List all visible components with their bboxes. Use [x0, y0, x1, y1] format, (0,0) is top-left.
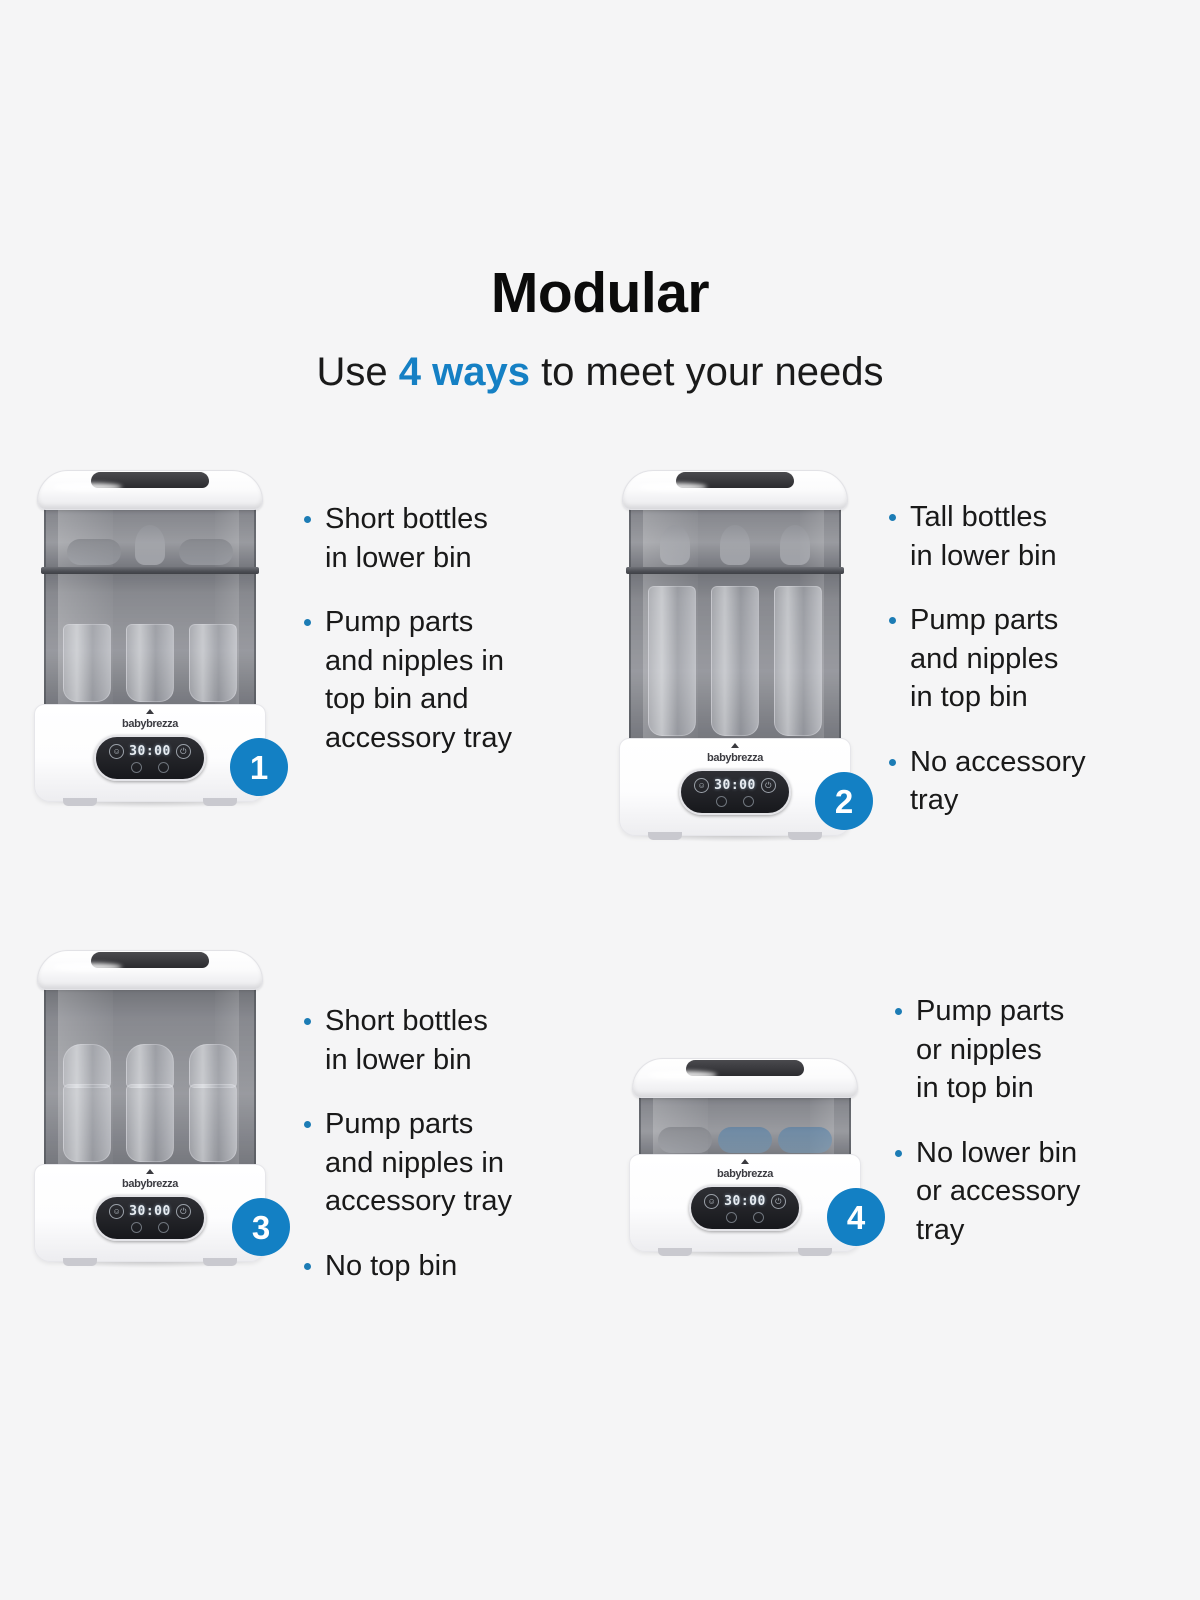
list-item: Pump parts and nipples in top bin: [889, 601, 1086, 717]
bullet-dot-icon: [304, 1263, 311, 1270]
brand-triangle-icon: [731, 743, 739, 748]
bullet-dot-icon: [889, 617, 896, 624]
control-panel[interactable]: ☺ 30:00 ⏻: [94, 735, 206, 781]
tall-bottle: [774, 586, 822, 736]
control-row-upper: ☺ 30:00 ⏻: [691, 1194, 799, 1209]
sterilizer-lid: [632, 1058, 858, 1098]
product-image-2: babybrezza ☺ 30:00 ⏻: [615, 470, 855, 836]
list-item: Tall bottles in lower bin: [889, 498, 1086, 575]
sterilizer-lid: [37, 950, 263, 990]
steam-icon[interactable]: ☺: [109, 1204, 124, 1219]
brand-logo: babybrezza: [620, 752, 850, 764]
timer-display: 30:00: [714, 778, 756, 793]
feature-text: No lower bin or accessory tray: [916, 1134, 1080, 1250]
short-bottle-cap: [189, 1044, 237, 1088]
product-image-1: babybrezza ☺ 30:00 ⏻: [30, 470, 270, 802]
feature-text: Tall bottles in lower bin: [910, 498, 1057, 575]
timer-display: 30:00: [129, 744, 171, 759]
lower-bin: [44, 986, 256, 1166]
timer-display: 30:00: [129, 1204, 171, 1219]
subtitle-suffix: to meet your needs: [530, 350, 884, 394]
sterilizer-base: babybrezza ☺ 30:00 ⏻: [34, 1164, 266, 1262]
sterilizer-base: babybrezza ☺ 30:00 ⏻: [629, 1154, 861, 1252]
steam-icon[interactable]: ☺: [694, 778, 709, 793]
feature-text: Pump parts and nipples in accessory tray: [325, 1105, 512, 1221]
short-bottle: [63, 624, 111, 702]
brand-triangle-icon: [146, 1169, 154, 1174]
step-badge-2: 2: [815, 772, 873, 830]
list-item: No lower bin or accessory tray: [895, 1134, 1080, 1250]
feature-text: Short bottles in lower bin: [325, 500, 488, 577]
feature-list-4: Pump parts or nipples in top bin No lowe…: [895, 950, 1080, 1249]
brand-triangle-icon: [146, 709, 154, 714]
nipple-part: [135, 525, 165, 565]
control-row-lower: [681, 796, 789, 807]
short-bottle: [126, 624, 174, 702]
short-bottle: [126, 1084, 174, 1162]
tall-bottle: [648, 586, 696, 736]
timer-button[interactable]: [743, 796, 754, 807]
lower-bin: [629, 568, 841, 740]
feature-list-2: Tall bottles in lower bin Pump parts and…: [889, 470, 1086, 820]
timer-button[interactable]: [158, 1222, 169, 1233]
power-icon[interactable]: ⏻: [771, 1194, 786, 1209]
short-bottle-cap: [126, 1044, 174, 1088]
pump-part: [179, 539, 233, 565]
timer-button[interactable]: [753, 1212, 764, 1223]
list-item: No top bin: [304, 1247, 512, 1286]
mode-button[interactable]: [131, 1222, 142, 1233]
bin-divider-rim: [41, 567, 259, 574]
feature-text: Short bottles in lower bin: [325, 1002, 488, 1079]
pump-part: [658, 1127, 712, 1153]
brand-logo: babybrezza: [630, 1168, 860, 1180]
timer-display: 30:00: [724, 1194, 766, 1209]
nipple-part: [780, 525, 810, 565]
nipple-part: [660, 525, 690, 565]
mode-button[interactable]: [131, 762, 142, 773]
list-item: Pump parts and nipples in top bin and ac…: [304, 603, 512, 757]
brand-logo: babybrezza: [35, 718, 265, 730]
control-row-lower: [691, 1212, 799, 1223]
sterilizer-lid: [37, 470, 263, 510]
config-panel-4: babybrezza ☺ 30:00 ⏻: [615, 950, 1185, 1300]
control-panel[interactable]: ☺ 30:00 ⏻: [94, 1195, 206, 1241]
feature-text: No accessory tray: [910, 743, 1086, 820]
lower-bin-contents-row2: [46, 1084, 254, 1166]
pump-part-blue: [778, 1127, 832, 1153]
power-icon[interactable]: ⏻: [176, 1204, 191, 1219]
lower-bin-contents: [46, 624, 254, 706]
base-feet: [63, 798, 237, 806]
top-bin: [639, 1094, 851, 1156]
short-bottle: [189, 1084, 237, 1162]
pump-part: [67, 539, 121, 565]
bullet-dot-icon: [304, 1018, 311, 1025]
config-panel-2: babybrezza ☺ 30:00 ⏻: [615, 470, 1175, 870]
feature-text: Pump parts and nipples in top bin: [910, 601, 1058, 717]
control-row-upper: ☺ 30:00 ⏻: [96, 744, 204, 759]
base-feet: [648, 832, 822, 840]
bullet-dot-icon: [895, 1150, 902, 1157]
power-icon[interactable]: ⏻: [176, 744, 191, 759]
nipple-part: [720, 525, 750, 565]
short-bottle-cap: [63, 1044, 111, 1088]
control-row-upper: ☺ 30:00 ⏻: [681, 778, 789, 793]
top-bin-contents: [641, 1127, 849, 1153]
short-bottle: [63, 1084, 111, 1162]
step-badge-3: 3: [232, 1198, 290, 1256]
lower-bin-contents: [631, 586, 839, 740]
control-panel[interactable]: ☺ 30:00 ⏻: [679, 769, 791, 815]
brand-triangle-icon: [741, 1159, 749, 1164]
config-panel-3: babybrezza ☺ 30:00 ⏻: [20, 950, 590, 1300]
mode-button[interactable]: [726, 1212, 737, 1223]
control-panel[interactable]: ☺ 30:00 ⏻: [689, 1185, 801, 1231]
feature-text: Pump parts or nipples in top bin: [916, 992, 1064, 1108]
step-badge-4: 4: [827, 1188, 885, 1246]
list-item: Pump parts or nipples in top bin: [895, 992, 1080, 1108]
lower-bin: [44, 568, 256, 706]
timer-button[interactable]: [158, 762, 169, 773]
control-row-lower: [96, 762, 204, 773]
list-item: Short bottles in lower bin: [304, 1002, 512, 1079]
bullet-dot-icon: [304, 516, 311, 523]
tall-bottle: [711, 586, 759, 736]
feature-text: Pump parts and nipples in top bin and ac…: [325, 603, 512, 757]
heading-block: Modular Use 4 ways to meet your needs: [0, 265, 1200, 394]
subtitle-prefix: Use: [316, 350, 398, 394]
bullet-dot-icon: [889, 759, 896, 766]
top-bin-contents: [46, 525, 254, 565]
sterilizer-unit-2: babybrezza ☺ 30:00 ⏻: [615, 470, 855, 836]
sterilizer-lid: [622, 470, 848, 510]
pump-part-blue: [718, 1127, 772, 1153]
top-bin: [629, 504, 841, 568]
infographic-page: Modular Use 4 ways to meet your needs: [0, 0, 1200, 1600]
sterilizer-base: babybrezza ☺ 30:00 ⏻: [619, 738, 851, 836]
bullet-dot-icon: [895, 1008, 902, 1015]
base-feet: [658, 1248, 832, 1256]
subtitle-accent: 4 ways: [399, 350, 530, 394]
control-row-upper: ☺ 30:00 ⏻: [96, 1204, 204, 1219]
page-subtitle: Use 4 ways to meet your needs: [0, 350, 1200, 394]
feature-list-1: Short bottles in lower bin Pump parts an…: [304, 470, 512, 757]
list-item: Short bottles in lower bin: [304, 500, 512, 577]
bullet-dot-icon: [304, 619, 311, 626]
power-icon[interactable]: ⏻: [761, 778, 776, 793]
brand-logo: babybrezza: [35, 1178, 265, 1190]
bullet-dot-icon: [304, 1121, 311, 1128]
list-item: Pump parts and nipples in accessory tray: [304, 1105, 512, 1221]
step-badge-1: 1: [230, 738, 288, 796]
feature-list-3: Short bottles in lower bin Pump parts an…: [304, 950, 512, 1285]
mode-button[interactable]: [716, 796, 727, 807]
bullet-dot-icon: [889, 514, 896, 521]
control-row-lower: [96, 1222, 204, 1233]
bin-divider-rim: [626, 567, 844, 574]
product-image-4: babybrezza ☺ 30:00 ⏻: [625, 1058, 865, 1252]
top-bin-contents: [631, 525, 839, 565]
steam-icon[interactable]: ☺: [109, 744, 124, 759]
list-item: No accessory tray: [889, 743, 1086, 820]
top-bin: [44, 504, 256, 568]
config-panel-1: babybrezza ☺ 30:00 ⏻: [30, 470, 590, 870]
sterilizer-base: babybrezza ☺ 30:00 ⏻: [34, 704, 266, 802]
feature-text: No top bin: [325, 1247, 457, 1286]
page-title: Modular: [0, 265, 1200, 322]
steam-icon[interactable]: ☺: [704, 1194, 719, 1209]
base-feet: [63, 1258, 237, 1266]
product-image-3: babybrezza ☺ 30:00 ⏻: [30, 950, 270, 1262]
short-bottle: [189, 624, 237, 702]
